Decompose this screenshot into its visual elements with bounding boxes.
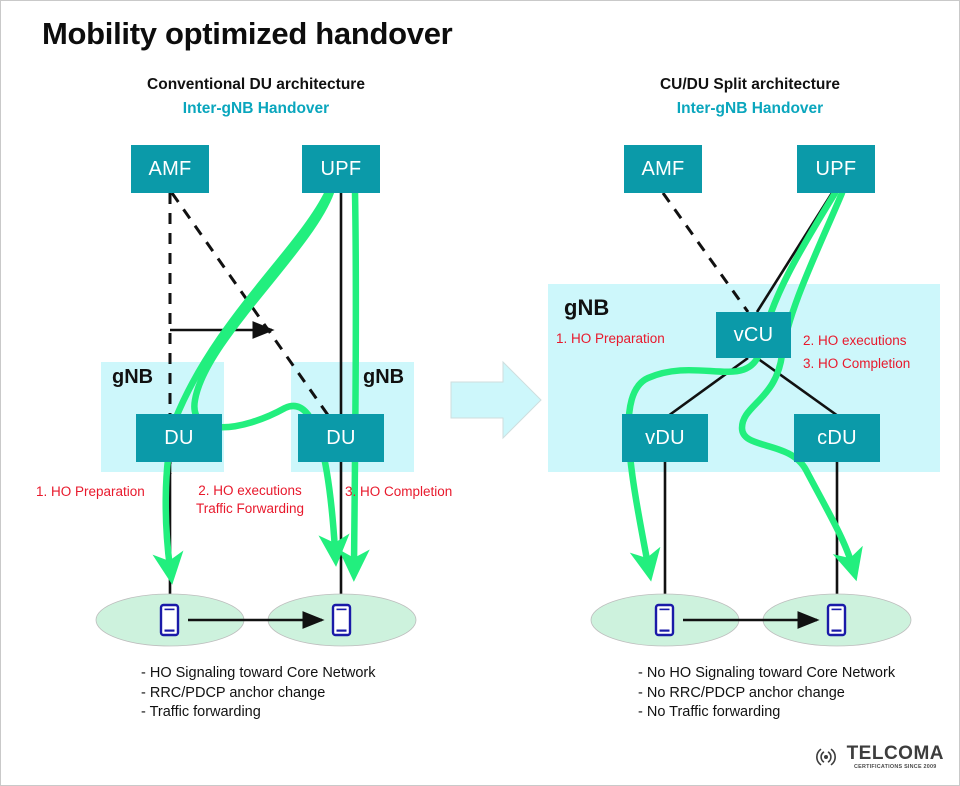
signal-waves-icon — [809, 744, 843, 770]
right-heading-line2: Inter-gNB Handover — [590, 100, 910, 118]
left-phase-note-2: 2. HO executions Traffic Forwarding — [165, 482, 335, 518]
right-summary-bullets: - No HO Signaling toward Core Network - … — [638, 664, 895, 723]
logo-wordmark: TELCOMA CERTIFICATIONS SINCE 2009 — [847, 744, 944, 770]
left-heading-line2: Inter-gNB Handover — [96, 100, 416, 118]
node-vdu[interactable]: vDU — [622, 414, 708, 462]
left-gnb-label-b: gNB — [363, 366, 404, 389]
node-amf-left[interactable]: AMF — [131, 145, 209, 193]
right-phase-note-completion: 3. HO Completion — [803, 354, 910, 374]
right-panel-heading: CU/DU Split architecture Inter-gNB Hando… — [590, 76, 910, 118]
node-amf-right[interactable]: AMF — [624, 145, 702, 193]
left-phase-note-1: 1. HO Preparation — [36, 482, 145, 502]
logo-tagline: CERTIFICATIONS SINCE 2009 — [854, 765, 937, 770]
left-summary-bullets: - HO Signaling toward Core Network - RRC… — [141, 664, 376, 723]
page-title: Mobility optimized handover — [42, 16, 452, 52]
node-cdu[interactable]: cDU — [794, 414, 880, 462]
left-phase-note-2-line2: Traffic Forwarding — [165, 500, 335, 518]
right-heading-line1: CU/DU Split architecture — [590, 76, 910, 94]
left-heading-line1: Conventional DU architecture — [96, 76, 416, 94]
left-phase-note-2-line1: 2. HO executions — [165, 482, 335, 500]
signal-dot-icon — [824, 755, 828, 759]
node-du-left-b[interactable]: DU — [298, 414, 384, 462]
left-panel-heading: Conventional DU architecture Inter-gNB H… — [96, 76, 416, 118]
right-gnb-label: gNB — [564, 295, 609, 321]
left-phase-note-3: 3. HO Completion — [345, 482, 452, 502]
left-gnb-label-a: gNB — [112, 366, 153, 389]
right-phase-note-preparation: 1. HO Preparation — [556, 329, 665, 349]
node-upf-left[interactable]: UPF — [302, 145, 380, 193]
telcoma-logo: TELCOMA CERTIFICATIONS SINCE 2009 — [809, 744, 944, 770]
node-upf-right[interactable]: UPF — [797, 145, 875, 193]
node-vcu[interactable]: vCU — [716, 312, 791, 358]
right-phase-note-executions: 2. HO executions — [803, 331, 907, 351]
logo-name: TELCOMA — [847, 744, 944, 763]
node-du-left-a[interactable]: DU — [136, 414, 222, 462]
